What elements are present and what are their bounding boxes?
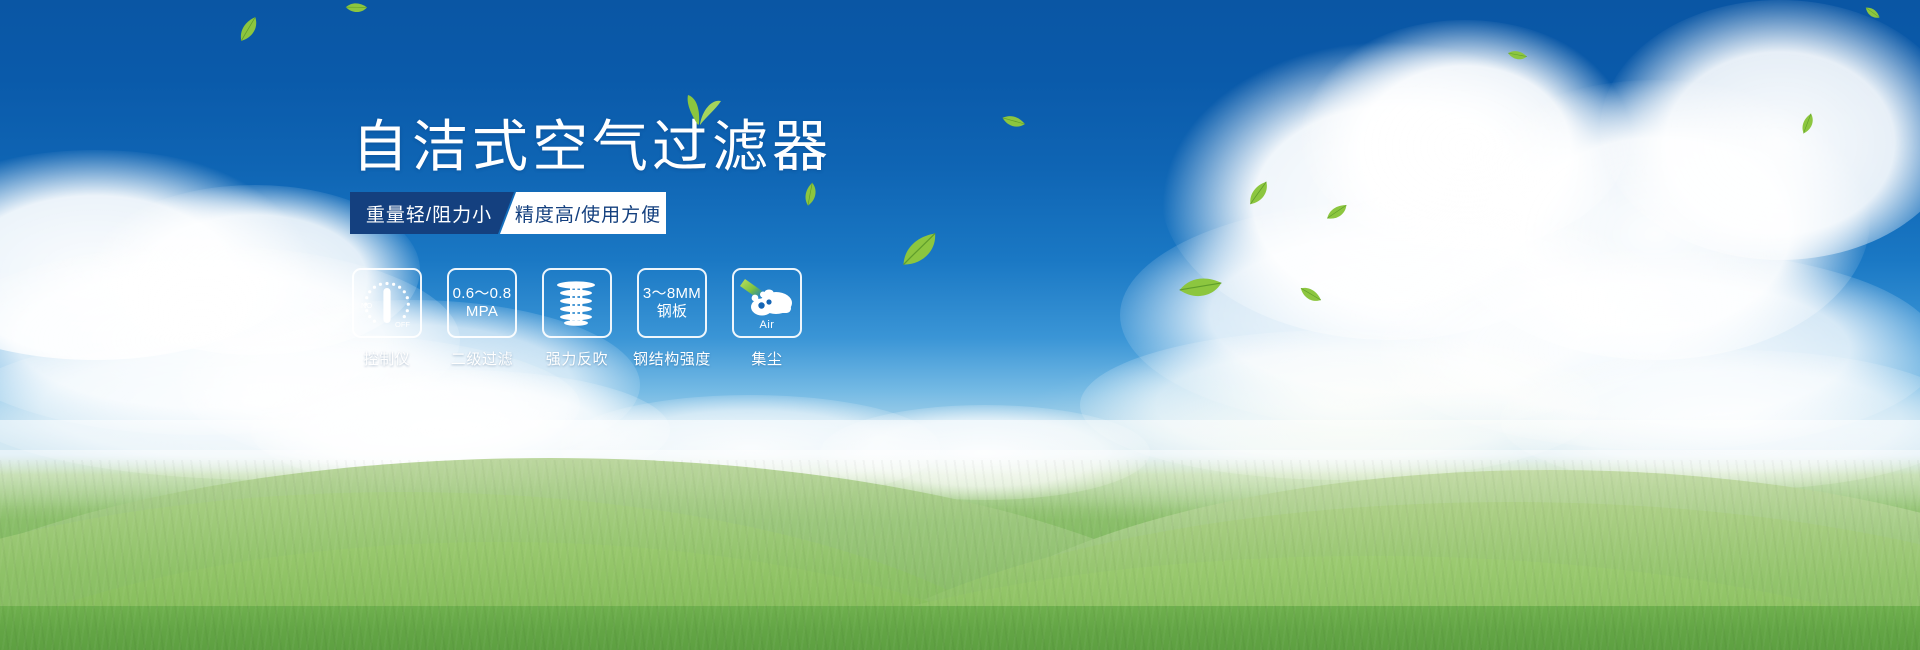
feature-box-steel-plate[interactable]: 3～8MM 钢板 [637, 268, 707, 338]
feature-label-steel-strength: 钢结构强度 [633, 348, 711, 369]
feature-box-dust[interactable]: Air [732, 268, 802, 338]
feature-label-reverse-blow: 强力反吹 [546, 348, 608, 369]
feature-tag-group: 重量轻/阻力小 精度高/使用方便 [350, 192, 666, 234]
gauge-icon: NO OFF [359, 275, 415, 331]
page-title: 自洁式空气过滤器 [352, 116, 832, 179]
steel-material: 钢板 [643, 303, 701, 321]
feature-label-dust-collection: 集尘 [751, 348, 782, 369]
feature-item-reverse-blow[interactable]: 强力反吹 [542, 268, 612, 369]
air-caption: Air [734, 319, 800, 331]
tag-precision[interactable]: 精度高/使用方便 [500, 192, 666, 234]
pressure-value-icon: 0.6～0.8 MPA [453, 285, 512, 320]
feature-item-steel-strength[interactable]: 3～8MM 钢板 钢结构强度 [637, 268, 707, 369]
feature-item-dust-collection[interactable]: Air 集尘 [732, 268, 802, 369]
pressure-range: 0.6～0.8 [453, 285, 512, 303]
pressure-unit: MPA [453, 303, 512, 321]
steel-plate-icon: 3～8MM 钢板 [643, 285, 701, 320]
feature-box-controller[interactable]: NO OFF [352, 268, 422, 338]
tag-lightweight[interactable]: 重量轻/阻力小 [350, 192, 514, 234]
gauge-label-no: NO [361, 301, 372, 310]
steel-thickness: 3～8MM [643, 285, 701, 303]
gauge-label-off: OFF [395, 320, 410, 329]
feature-icon-row: NO OFF 控制仪 0.6～0.8 MPA 二级过滤 [352, 268, 802, 369]
title-leaf-decoration [676, 92, 722, 131]
feature-label-controller: 控制仪 [364, 348, 411, 369]
banner-content: 自洁式空气过滤器 重量轻/阻力小 精度高/使用方便 [0, 0, 1920, 650]
feature-item-controller[interactable]: NO OFF 控制仪 [352, 268, 422, 369]
feature-box-pressure[interactable]: 0.6～0.8 MPA [447, 268, 517, 338]
filter-cartridge-icon [551, 277, 603, 329]
feature-box-reverse-blow[interactable] [542, 268, 612, 338]
feature-label-two-stage-filter: 二级过滤 [451, 348, 513, 369]
feature-item-two-stage-filter[interactable]: 0.6～0.8 MPA 二级过滤 [447, 268, 517, 369]
